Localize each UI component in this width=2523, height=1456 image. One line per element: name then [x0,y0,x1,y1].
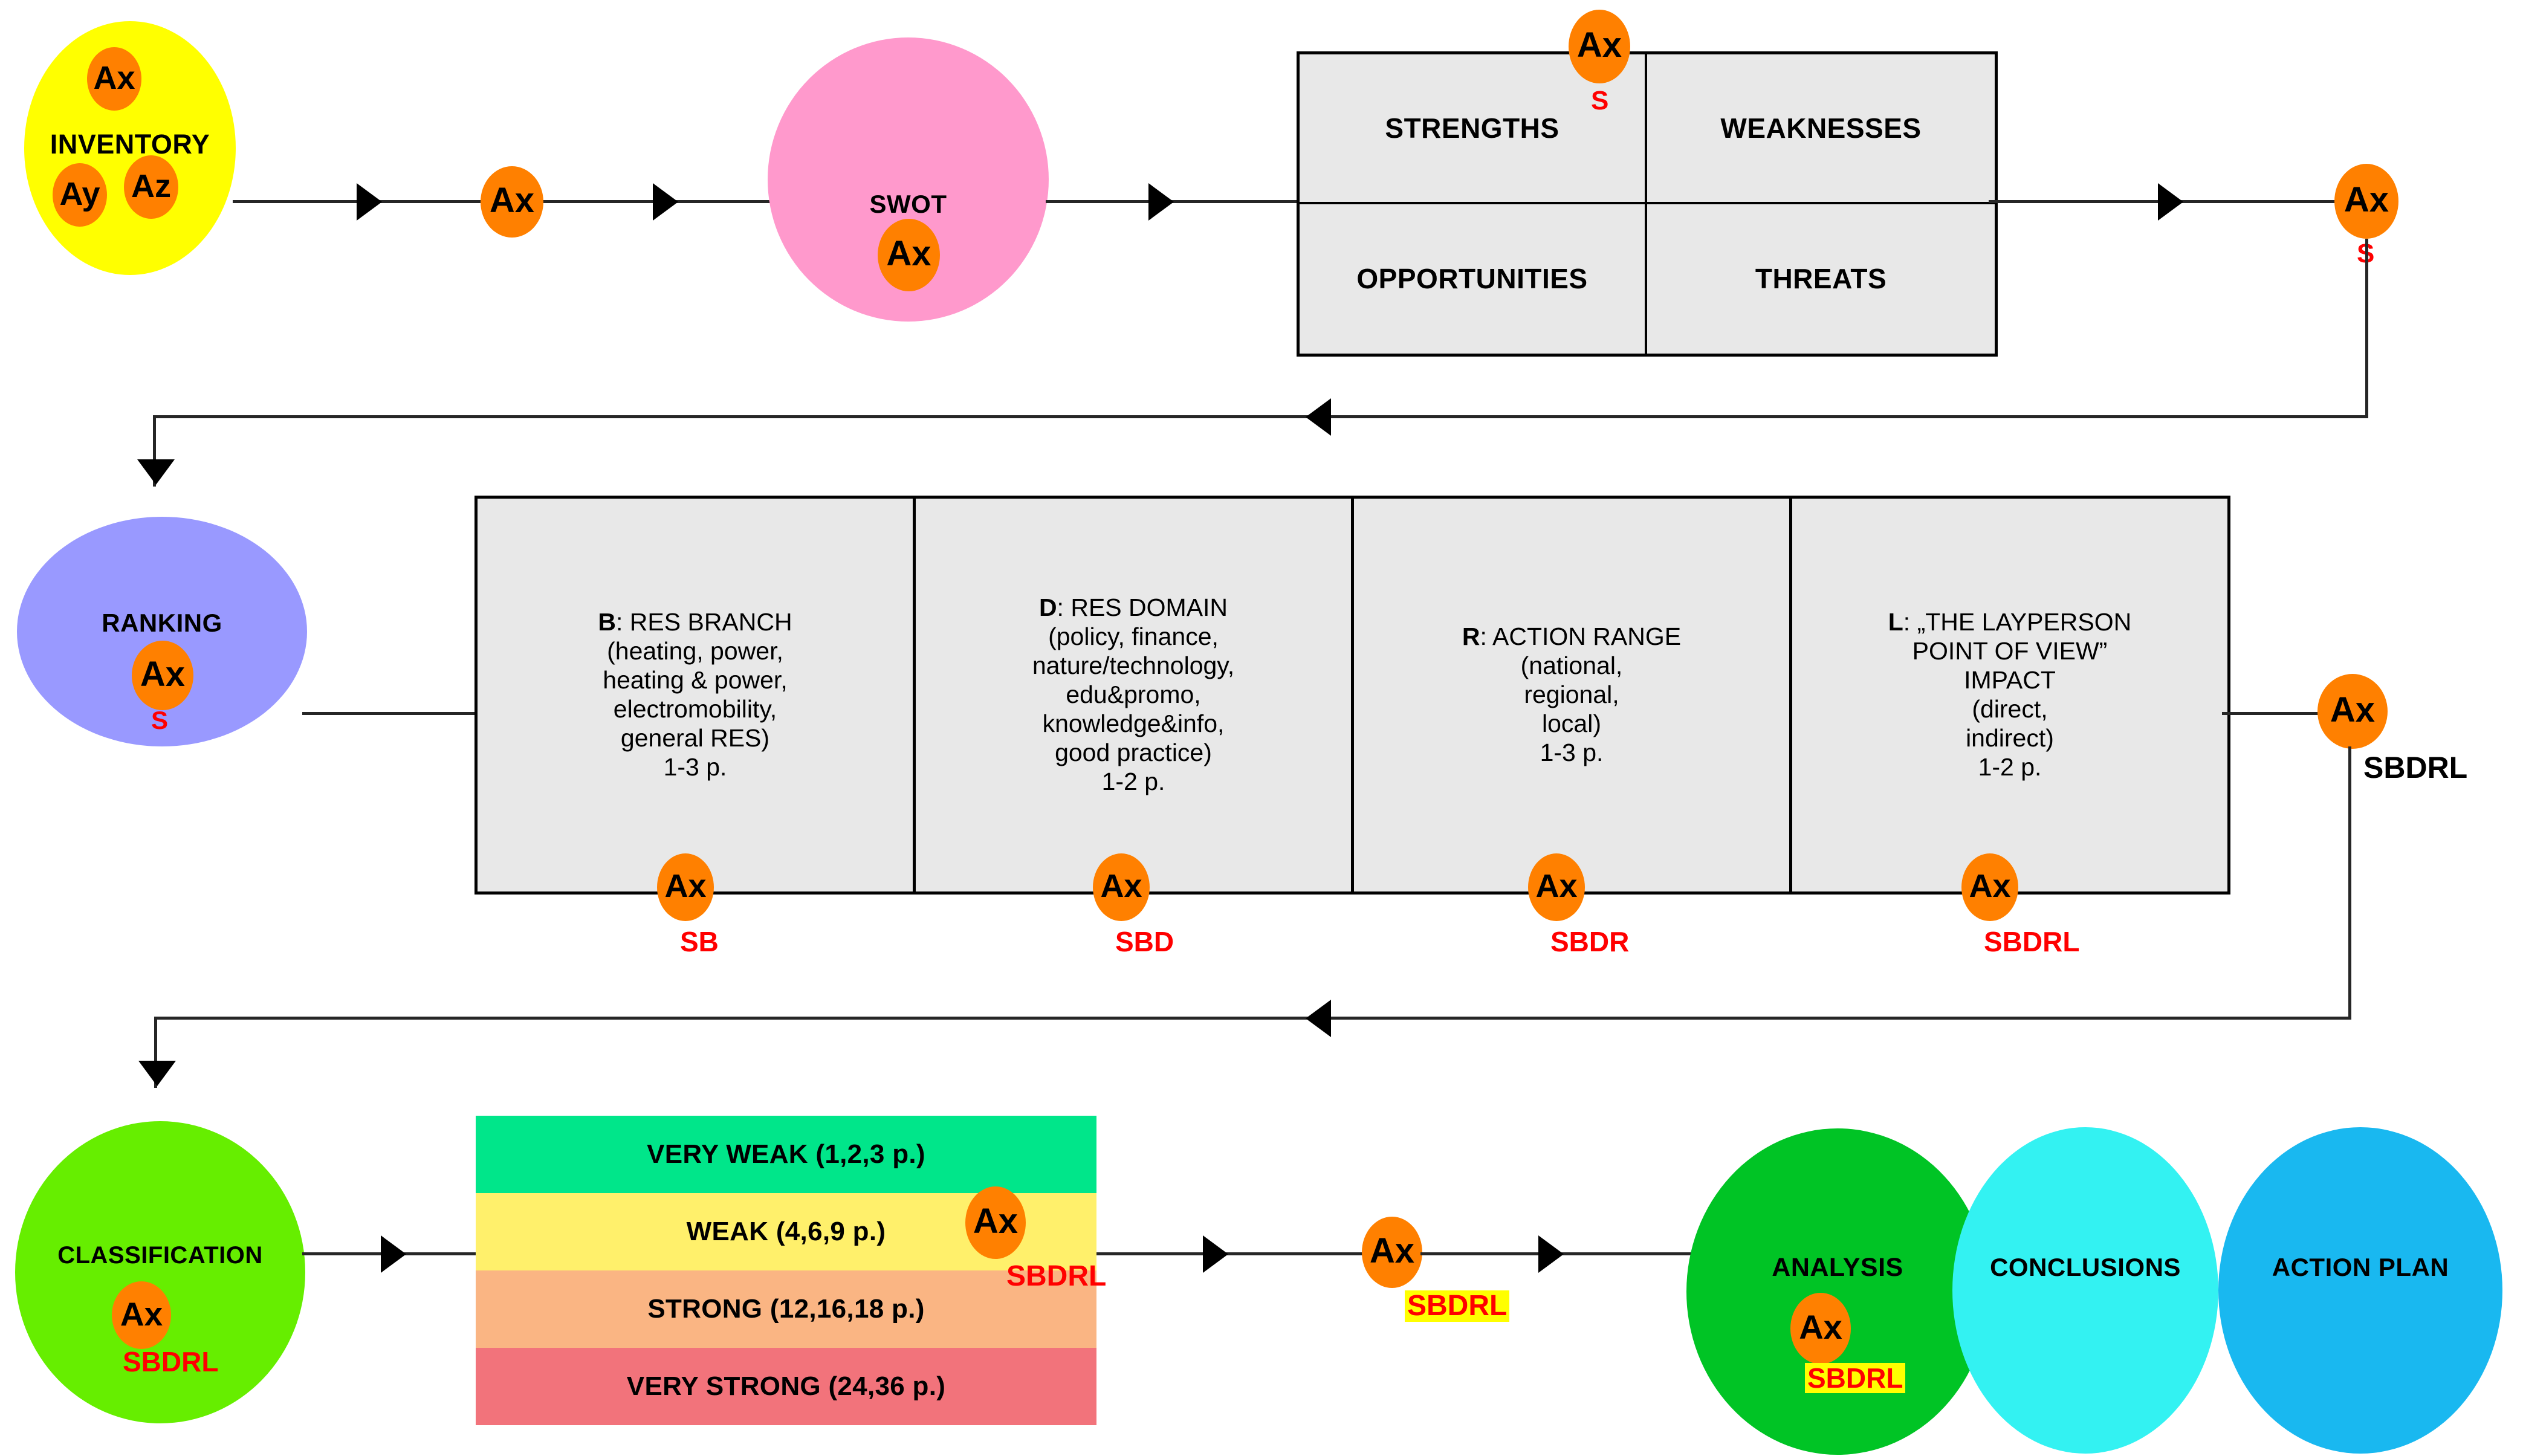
sublabel-ranking: S [151,708,168,733]
classification-bands: VERY WEAK (1,2,3 p.) WEAK (4,6,9 p.) STR… [476,1116,1096,1425]
ax-bubble-row1-end[interactable]: Ax [2334,164,2398,239]
ax-bubble-criterion-d[interactable]: Ax [1093,853,1150,921]
band-very-strong: VERY STRONG (24,36 p.) [476,1348,1096,1425]
connector-bands-mid [1096,1252,1393,1255]
node-action-plan-label: ACTION PLAN [2218,1253,2502,1282]
arrow-row1-right [2158,183,2183,221]
arrow-row3-down [138,1061,176,1086]
criterion-d-line: 1-2 p. [1102,768,1165,795]
sublabel-analysis: SBDRL [1805,1363,1905,1393]
ax-bubble-analysis[interactable]: Ax [1790,1293,1851,1364]
criterion-l-title-text: „THE LAYPERSON [1917,608,2132,636]
ax-bubble-label: Ax [1100,870,1142,902]
criterion-d-line: (policy, finance, [1048,623,1219,650]
ax-bubble-row2-end[interactable]: Ax [2317,674,2388,749]
criterion-b-line: heating & power, [603,666,787,694]
sublabel-row2-end: SBDRL [2363,752,2467,783]
criterion-r-line: (national, [1521,652,1623,679]
ax-bubble-label: Ax [2344,183,2389,218]
ax-bubble-label: Az [131,170,171,202]
criterion-l-line: POINT OF VIEW” [1912,637,2108,665]
connector-row1-down [2365,239,2368,417]
criterion-r: R: ACTION RANGE (national, regional, loc… [1351,499,1789,891]
ax-bubble-inventory-az[interactable]: Az [124,155,178,219]
criterion-l-line: (direct, [1972,695,2047,723]
arrow-mid-right [1538,1235,1564,1273]
node-swot[interactable]: SWOT Ax [768,37,1049,322]
connector-row1-back [153,415,2368,418]
ax-bubble-label: Ax [1969,870,2010,902]
arrow-row2-down [137,459,175,485]
ax-bubble-ranking[interactable]: Ax [132,641,193,710]
band-strong: STRONG (12,16,18 p.) [476,1270,1096,1348]
criterion-d-line: good practice) [1055,739,1212,766]
sublabel-criterion-b: SB [680,928,719,956]
ax-bubble-label: Ax [140,657,185,692]
ax-bubble-label: Ay [59,178,100,210]
ax-bubble-criterion-r[interactable]: Ax [1528,853,1585,921]
criterion-r-colon: : [1480,623,1492,650]
sublabel-classification: SBDRL [123,1348,218,1376]
ranking-criteria-strip: B: RES BRANCH (heating, power, heating &… [474,496,2230,895]
node-ranking[interactable]: RANKING Ax S [17,517,307,746]
criterion-d-title-text: RES DOMAIN [1070,594,1228,621]
criterion-b-line: electromobility, [614,695,777,723]
criterion-d-line: nature/technology, [1032,652,1234,679]
criterion-l-line: indirect) [1966,724,2054,752]
node-action-plan[interactable]: ACTION PLAN [2218,1127,2502,1454]
arrow-bands-right [1203,1235,1228,1273]
sublabel-criterion-r: SBDR [1550,928,1629,956]
ax-bubble-label: Ax [490,183,534,218]
node-ranking-label: RANKING [17,609,307,638]
sublabel-criterion-l: SBDRL [1984,928,2079,956]
ax-bubble-label: Ax [1535,870,1577,902]
ax-bubble-label: Ax [1577,28,1622,63]
ax-bubble-label: Ax [973,1204,1018,1239]
criterion-r-key: R [1462,623,1480,650]
criterion-b: B: RES BRANCH (heating, power, heating &… [478,499,913,891]
arrow-row2-back-left [1306,1000,1331,1037]
connector-row2-down-right [2348,746,2351,1018]
criterion-d-line: knowledge&info, [1043,710,1225,737]
node-conclusions-label: CONCLUSIONS [1952,1253,2218,1282]
criterion-b-title-text: RES BRANCH [630,608,792,636]
diagram-canvas: INVENTORY Ax Ay Az Ax SWOT Ax STRENGTHS … [0,0,2523,1456]
node-analysis-label: ANALYSIS [1686,1253,1989,1283]
arrow-row1-back-left [1306,398,1331,436]
ax-bubble-criterion-l[interactable]: Ax [1961,853,2018,921]
node-inventory-label: INVENTORY [24,129,236,160]
ax-bubble-label: Ax [2330,693,2375,728]
arrow-classification-right [381,1235,406,1273]
ax-bubble-label: Ax [664,870,706,902]
criterion-l-line: 1-2 p. [1978,753,2042,781]
ax-bubble-classification[interactable]: Ax [112,1281,171,1349]
ax-bubble-label: Ax [886,236,931,271]
sublabel-mid: SBDRL [1405,1290,1509,1322]
criterion-d-line: edu&promo, [1066,681,1200,708]
ax-bubble-inventory-ay[interactable]: Ay [53,163,107,227]
node-classification-label: CLASSIFICATION [15,1242,305,1269]
ax-bubble-mid[interactable]: Ax [1362,1217,1422,1288]
criterion-b-key: B [598,608,616,636]
criterion-b-line: (heating, power, [607,637,783,665]
swot-cell-threats: THREATS [1647,204,1995,354]
connector-mid-analysis [1420,1252,1729,1255]
ax-bubble-label: Ax [93,62,135,94]
arrow-link1-right [653,183,678,221]
node-analysis[interactable]: ANALYSIS Ax SBDRL [1686,1128,1989,1455]
criterion-d-colon: : [1057,594,1071,621]
arrow-swot-right [1148,183,1174,221]
sublabel-criterion-d: SBD [1115,928,1174,956]
sublabel-swot-matrix: S [1591,88,1608,114]
swot-matrix: STRENGTHS WEAKNESSES OPPORTUNITIES THREA… [1297,51,1998,357]
ax-bubble-link1[interactable]: Ax [481,166,543,238]
node-classification[interactable]: CLASSIFICATION Ax SBDRL [15,1121,305,1423]
criterion-b-title: : [616,608,630,636]
criterion-l: L: „THE LAYPERSON POINT OF VIEW” IMPACT … [1789,499,2227,891]
criterion-r-line: regional, [1524,681,1619,708]
criterion-r-line: 1-3 p. [1540,739,1604,766]
ax-bubble-swot[interactable]: Ax [878,219,940,291]
criterion-r-title-text: ACTION RANGE [1492,623,1681,650]
criterion-l-colon: : [1903,608,1917,636]
arrow-inventory-right [357,183,382,221]
criterion-b-line: 1-3 p. [664,753,727,781]
ax-bubble-inventory-ax[interactable]: Ax [87,47,141,111]
connector-ranking-criteria [302,712,478,715]
criterion-d: D: RES DOMAIN (policy, finance, nature/t… [913,499,1351,891]
node-inventory[interactable]: INVENTORY Ax Ay Az [24,21,236,275]
criterion-l-key: L [1888,608,1903,636]
swot-cell-opportunities: OPPORTUNITIES [1300,204,1647,354]
swot-cell-weaknesses: WEAKNESSES [1647,54,1995,204]
criterion-d-key: D [1039,594,1057,621]
criterion-b-line: general RES) [621,724,769,752]
node-swot-label: SWOT [768,190,1049,219]
sublabel-bands: SBDRL [1006,1262,1106,1291]
ax-bubble-swot-matrix[interactable]: Ax [1569,10,1630,83]
connector-row2-back [154,1017,2351,1020]
band-very-weak: VERY WEAK (1,2,3 p.) [476,1116,1096,1193]
criterion-l-line: IMPACT [1964,666,2056,694]
node-conclusions[interactable]: CONCLUSIONS [1952,1127,2218,1454]
ax-bubble-label: Ax [120,1298,163,1331]
ax-bubble-criterion-b[interactable]: Ax [657,853,714,921]
ax-bubble-bands[interactable]: Ax [965,1186,1026,1259]
ax-bubble-label: Ax [1799,1310,1842,1344]
criterion-r-line: local) [1542,710,1601,737]
ax-bubble-label: Ax [1370,1234,1414,1269]
